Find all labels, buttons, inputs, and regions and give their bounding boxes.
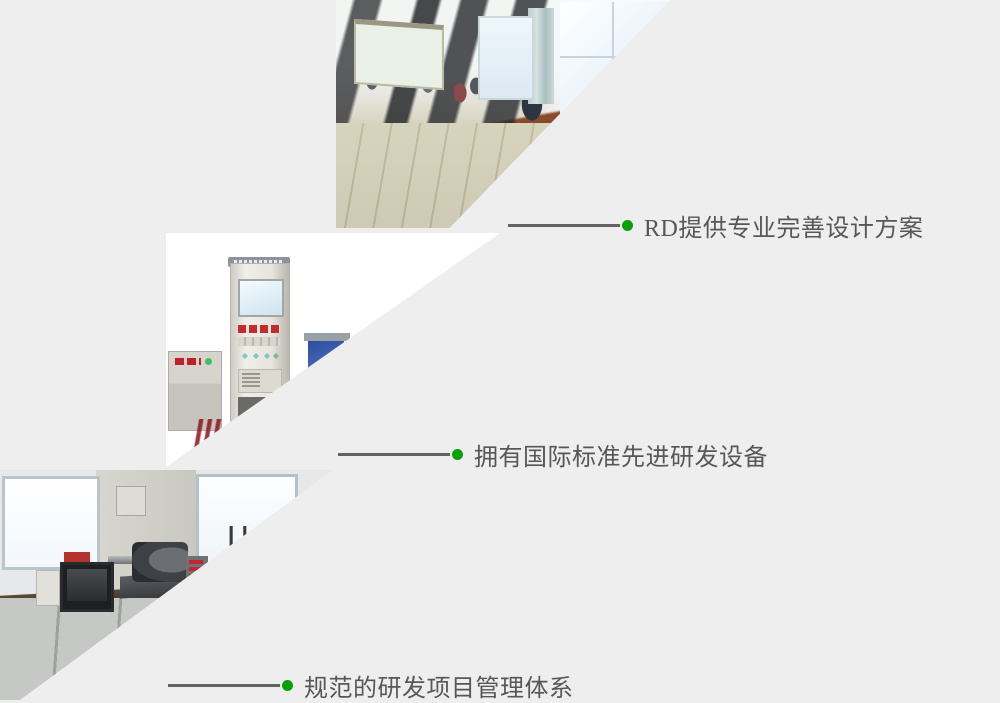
projection-screen-icon (354, 19, 444, 90)
bullet-dot-icon (452, 449, 463, 460)
motor-icon (132, 542, 188, 582)
caption-text: 规范的研发项目管理体系 (304, 668, 574, 703)
feature-showcase: RD提供专业完善设计方案 拥有国际标准先进研发设备 (0, 0, 1000, 700)
feature-image-equipment (166, 233, 500, 467)
caption-rd-design: RD提供专业完善设计方案 (508, 212, 923, 238)
feature-image-management (0, 470, 333, 700)
rack-keypad-icon (238, 369, 282, 393)
caption-equipment: 拥有国际标准先进研发设备 (338, 441, 768, 467)
bullet-dot-icon (622, 220, 633, 231)
window-side-icon (478, 16, 534, 100)
feature-image-rd-design (336, 0, 670, 228)
rack-knobs-icon (238, 351, 280, 361)
bullet-dot-icon (282, 680, 293, 691)
wall-plate-icon (116, 486, 146, 516)
caption-text: RD提供专业完善设计方案 (644, 208, 923, 243)
lab-monitor-icon (60, 562, 114, 612)
rack-monitor-icon (238, 279, 284, 317)
caption-management: 规范的研发项目管理体系 (168, 672, 574, 698)
caption-text: 拥有国际标准先进研发设备 (474, 437, 768, 472)
connector-line-icon (168, 684, 280, 687)
rack-readout-icon (238, 325, 280, 333)
computer-tower-icon (36, 570, 60, 606)
connector-line-icon (508, 224, 620, 227)
rack-buttons-icon (238, 337, 280, 346)
connector-line-icon (338, 453, 450, 456)
